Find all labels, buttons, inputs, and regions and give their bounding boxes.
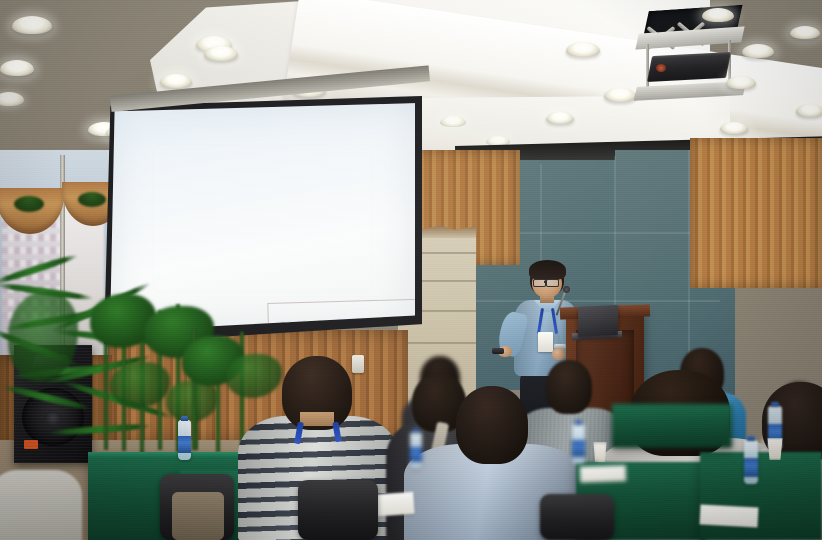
ceiling-downlight [546, 112, 574, 124]
presenter-right-hand [552, 348, 565, 360]
attendee-left-edge [0, 440, 80, 540]
ceiling-downlight [720, 122, 748, 134]
valance-foliage [78, 192, 106, 207]
ceiling-downlight [0, 92, 24, 106]
handout-paper [580, 465, 627, 483]
water-bottle [572, 424, 585, 464]
ceiling-downlight [440, 116, 466, 127]
ceiling-downlight [12, 16, 52, 34]
ceiling-projector [628, 4, 758, 104]
wood-slat-panel [690, 138, 822, 288]
chair-back [540, 494, 614, 540]
wristwatch [554, 344, 566, 349]
ceiling-downlight [566, 42, 600, 57]
name-badge [538, 332, 553, 352]
glasses-bridge [544, 281, 547, 283]
water-bottle [744, 440, 758, 484]
ceiling-downlight [796, 104, 822, 117]
ceiling-downlight [160, 74, 192, 88]
microphone-icon [563, 286, 570, 293]
presenter-hair [529, 260, 566, 280]
ceiling-downlight [0, 60, 34, 76]
presenter-remote [492, 348, 504, 354]
handout-paper [700, 504, 759, 527]
conference-table [612, 404, 732, 448]
ceiling-downlight [204, 46, 238, 61]
ceiling-downlight [702, 8, 734, 22]
laptop-screen [578, 305, 618, 337]
water-bottle [410, 432, 422, 468]
chair-seat-pad [172, 492, 224, 540]
glasses-icon [546, 279, 559, 287]
ceiling-downlight [726, 76, 756, 89]
valance-foliage [14, 196, 44, 212]
water-bottle [178, 420, 191, 460]
projector-lens-icon [656, 64, 666, 72]
conference-table [700, 452, 822, 540]
conference-room-photo: 固体力学发展存在的问题 [0, 0, 822, 540]
ceiling-downlight [790, 26, 820, 39]
chair-back [298, 480, 378, 540]
